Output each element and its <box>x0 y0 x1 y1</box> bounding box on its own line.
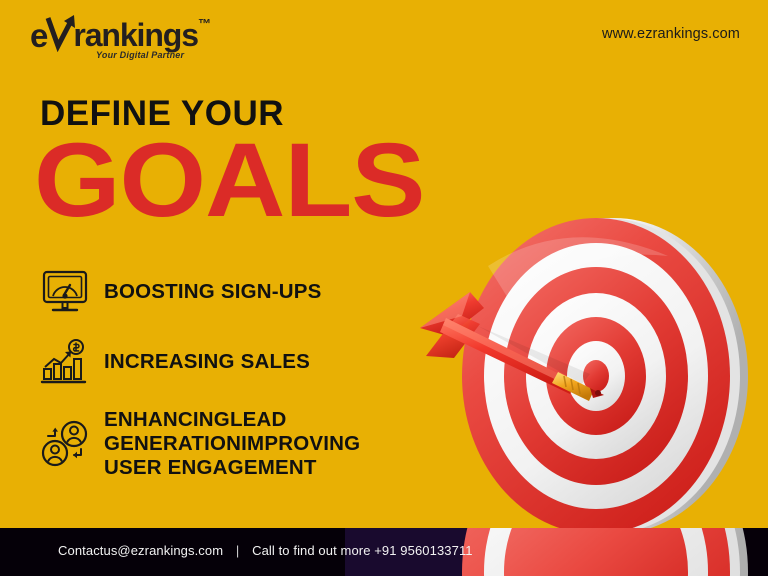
list-item-label: BOOSTING SIGN-UPS <box>104 280 322 304</box>
page-title: GOALS <box>34 128 424 233</box>
monitor-speedometer-icon <box>40 268 92 316</box>
user-referral-arrows-icon <box>40 420 92 468</box>
list-item: BOOSTING SIGN-UPS <box>40 268 420 316</box>
footer-contact: Contactus@ezrankings.com | Call to find … <box>58 543 473 558</box>
list-item: INCREASING SALES <box>40 338 420 386</box>
footer-email[interactable]: Contactus@ezrankings.com <box>58 543 223 558</box>
dartboard-target-with-dart <box>418 196 768 556</box>
list-item-line: USER ENGAGEMENT <box>104 456 360 480</box>
logo-wordmark: rankings <box>73 22 198 50</box>
list-item-line: ENHANCINGLEAD <box>104 408 360 432</box>
brand-logo[interactable]: e rankings ™ Your Digital Partner <box>30 14 220 60</box>
footer-separator: | <box>236 543 239 558</box>
list-item-line: GENERATIONIMPROVING <box>104 432 360 456</box>
list-item-line: BOOSTING SIGN-UPS <box>104 280 322 304</box>
goals-list: BOOSTING SIGN-UPS INCREASING SALES <box>40 268 420 502</box>
trademark-symbol: ™ <box>198 16 211 31</box>
list-item-label: ENHANCINGLEAD GENERATIONIMPROVING USER E… <box>104 408 360 480</box>
bar-chart-dollar-icon <box>40 338 92 386</box>
footer-bar: Contactus@ezrankings.com | Call to find … <box>0 528 768 576</box>
list-item-line: INCREASING SALES <box>104 350 310 374</box>
poster-canvas: e rankings ™ Your Digital Partner www.ez… <box>0 0 768 576</box>
footer-call-to-action[interactable]: Call to find out more +91 9560133711 <box>252 543 473 558</box>
list-item: ENHANCINGLEAD GENERATIONIMPROVING USER E… <box>40 408 420 480</box>
website-url[interactable]: www.ezrankings.com <box>602 26 740 42</box>
logo-tagline: Your Digital Partner <box>96 50 184 60</box>
upward-arrow-v-icon <box>47 14 77 50</box>
header: e rankings ™ Your Digital Partner www.ez… <box>0 0 768 68</box>
list-item-label: INCREASING SALES <box>104 350 310 374</box>
